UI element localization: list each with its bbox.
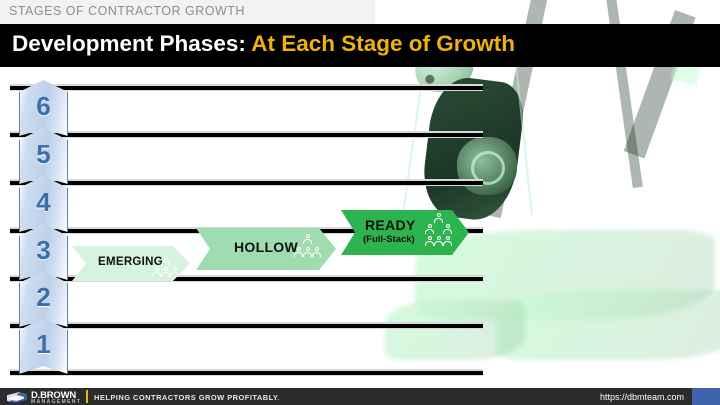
stage-number: 4: [36, 189, 50, 220]
person-icon: [443, 224, 452, 234]
title-main: Development Phases: [12, 31, 238, 56]
footer-accent-square: [692, 388, 720, 405]
kicker-bar: STAGES OF CONTRACTOR GROWTH: [0, 0, 375, 24]
person-icon: [170, 267, 179, 277]
stage-number: 3: [36, 237, 50, 268]
stage-chevron-4[interactable]: 4: [19, 176, 68, 232]
stage-number: 6: [36, 93, 50, 124]
page-title: Development Phases: At Each Stage of Gro…: [12, 31, 515, 57]
tagline-period: .: [278, 393, 281, 402]
person-icon: [161, 267, 170, 277]
divider-rule: [10, 84, 483, 91]
person-icon: [303, 247, 312, 257]
person-icon: [425, 224, 434, 234]
logo-subtitle: MANAGEMENT: [31, 399, 81, 405]
person-icon: [434, 236, 443, 246]
phase-label: HOLLOW: [234, 239, 298, 255]
footer-url[interactable]: https://dbmteam.com: [600, 392, 684, 402]
stage-number: 1: [36, 331, 50, 362]
slide-canvas: STAGES OF CONTRACTOR GROWTH Development …: [0, 0, 720, 405]
phase-chevron-hollow[interactable]: HOLLOW: [196, 228, 336, 270]
tagline-text: HELPING CONTRACTORS GROW PROFITABLY: [94, 393, 278, 402]
person-icon: [443, 236, 452, 246]
person-icon: [434, 213, 443, 223]
footer-bar: D.BROWN MANAGEMENT HELPING CONTRACTORS G…: [0, 388, 720, 405]
person-icon: [425, 236, 434, 246]
footer-divider: [86, 390, 88, 403]
brand-logo[interactable]: D.BROWN MANAGEMENT: [6, 390, 80, 404]
photo-log: [385, 300, 525, 360]
photo-rope: [402, 85, 422, 214]
phase-chevron-ready[interactable]: READY (Full-Stack): [341, 210, 469, 255]
title-colon: :: [238, 31, 246, 56]
stage-chevron-1[interactable]: 1: [19, 318, 68, 374]
stage-number: 2: [36, 284, 50, 315]
stage-chevron-6[interactable]: 6: [19, 80, 68, 136]
footer-tagline: HELPING CONTRACTORS GROW PROFITABLY.: [94, 393, 280, 402]
stage-chevron-5[interactable]: 5: [19, 128, 68, 184]
person-icon: [161, 256, 170, 266]
divider-rule: [10, 179, 483, 186]
person-icon: [152, 267, 161, 277]
person-icon: [294, 247, 303, 257]
stage-number: 5: [36, 141, 50, 172]
title-bar: Development Phases: At Each Stage of Gro…: [0, 24, 720, 67]
phase-label: READY: [365, 217, 416, 233]
photo-log: [495, 290, 720, 360]
kicker-text: STAGES OF CONTRACTOR GROWTH: [9, 4, 245, 18]
divider-rule: [10, 322, 483, 329]
logo-mark-icon: [6, 391, 28, 404]
divider-rule: [10, 131, 483, 138]
title-accent: At Each Stage of Growth: [251, 31, 515, 56]
phase-chevron-emerging[interactable]: EMERGING: [72, 246, 190, 281]
phase-sublabel: (Full-Stack): [363, 234, 415, 245]
person-icon: [312, 247, 321, 257]
photo-harness: [457, 137, 517, 195]
divider-rule: [10, 369, 483, 376]
stage-ribbon: 6 5 4 3 2 1: [19, 80, 66, 370]
photo-worker-figure: [405, 45, 555, 235]
person-icon: [303, 234, 312, 244]
